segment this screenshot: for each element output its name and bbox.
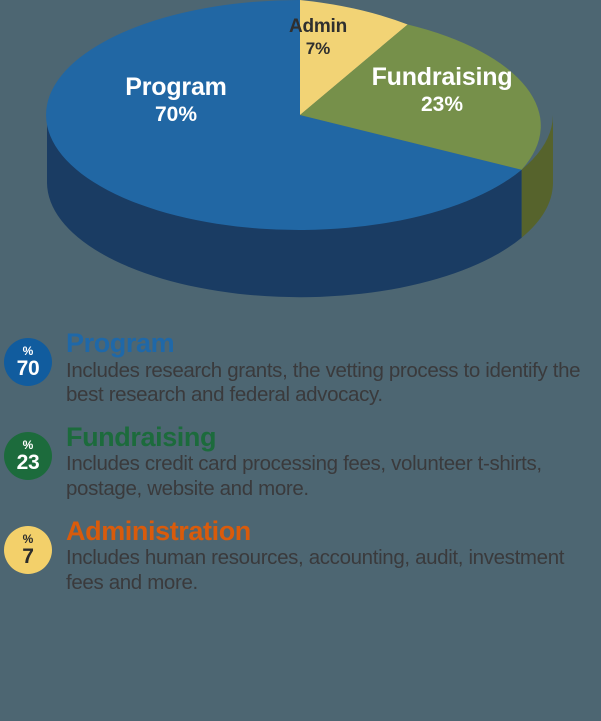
legend-title-administration: Administration [66, 518, 599, 546]
legend-badge-administration-value: 7 [22, 546, 33, 567]
legend-badge-administration: % 7 [4, 526, 52, 574]
percent-symbol-icon: % [23, 345, 34, 357]
legend-description-administration: Includes human resources, accounting, au… [66, 546, 599, 594]
legend-title-fundraising: Fundraising [66, 424, 599, 452]
legend-badge-program: % 70 [4, 338, 52, 386]
legend-description-program: Includes research grants, the vetting pr… [66, 359, 599, 407]
legend-title-program: Program [66, 330, 599, 358]
legend-list: % 70 Program Includes research grants, t… [0, 330, 601, 612]
legend-text-fundraising: Fundraising Includes credit card process… [66, 424, 601, 501]
legend-item-administration: % 7 Administration Includes human resour… [0, 518, 601, 595]
legend-item-fundraising: % 23 Fundraising Includes credit card pr… [0, 424, 601, 501]
legend-text-program: Program Includes research grants, the ve… [66, 330, 601, 407]
legend-badge-fundraising: % 23 [4, 432, 52, 480]
legend-text-administration: Administration Includes human resources,… [66, 518, 601, 595]
pie-chart-svg [0, 0, 601, 318]
percent-symbol-icon: % [23, 439, 34, 451]
legend-badge-fundraising-value: 23 [17, 452, 40, 473]
percent-symbol-icon: % [23, 533, 34, 545]
pie-top-surface [46, 0, 541, 230]
legend-badge-program-value: 70 [17, 358, 40, 379]
legend-item-program: % 70 Program Includes research grants, t… [0, 330, 601, 407]
pie-chart: Program 70% Fundraising 23% Admin 7% [0, 0, 601, 318]
legend-description-fundraising: Includes credit card processing fees, vo… [66, 452, 599, 500]
